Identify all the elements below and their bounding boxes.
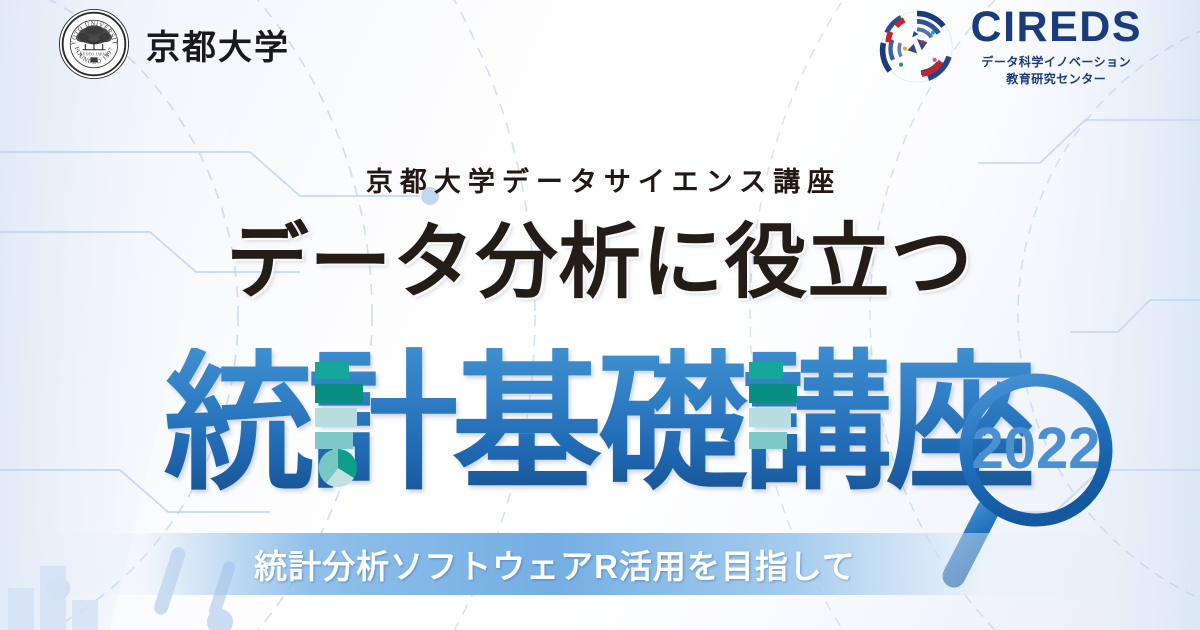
poster-canvas: KYOTO UNIVERSITY FOUNDED 1897 KYOTO JAPA… [0, 0, 1200, 630]
year-badge-text: 2022 [971, 416, 1100, 481]
cireds-subtitle: データ科学イノベーション 教育研究センター [981, 54, 1131, 89]
svg-text:KYOTO JAPAN: KYOTO JAPAN [80, 53, 108, 57]
title-char-5-with-chart: 講 [744, 348, 890, 498]
cireds-wordmark-block: CIREDS データ科学イノベーション 教育研究センター [971, 6, 1142, 89]
cireds-wordmark: CIREDS [971, 6, 1142, 49]
title-char-2-with-chart: 計 [310, 348, 456, 498]
title-char-5: 講 [742, 339, 892, 507]
ribbon-text: 統計分析ソフトウェアR活用を目指して [254, 540, 856, 588]
poster-headline: データ分析に役立つ [0, 222, 1200, 304]
cireds-subtitle-line1: データ科学イノベーション [981, 55, 1131, 69]
kyoto-university-name: 京都大学 [146, 20, 290, 69]
cireds-subtitle-line2: 教育研究センター [1006, 72, 1106, 86]
title-char-3: 基 [452, 348, 602, 498]
title-char-1: 統 [164, 348, 314, 498]
cireds-logo: CIREDS データ科学イノベーション 教育研究センター [877, 6, 1142, 89]
title-char-2: 計 [308, 339, 458, 507]
poster-ribbon: 統計分析ソフトウェアR活用を目指して [0, 533, 1200, 595]
title-char-4: 礎 [598, 348, 748, 498]
kyoto-university-logo: KYOTO UNIVERSITY FOUNDED 1897 KYOTO JAPA… [58, 8, 290, 80]
cireds-circular-data-mark-icon [877, 7, 957, 87]
kyoto-university-seal-icon: KYOTO UNIVERSITY FOUNDED 1897 KYOTO JAPA… [58, 8, 130, 80]
course-series-label: 京都大学データサイエンス講座 [0, 160, 1200, 199]
